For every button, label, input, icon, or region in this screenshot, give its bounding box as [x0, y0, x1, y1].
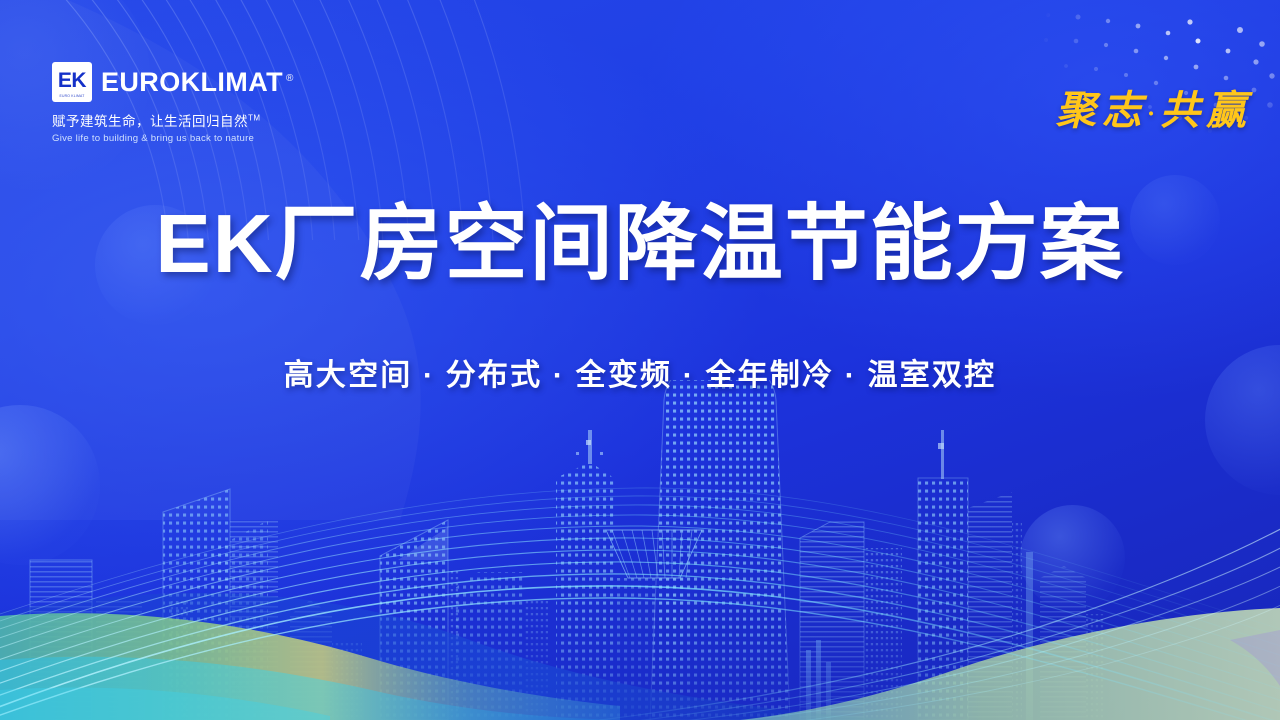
- decor-blob: [0, 405, 100, 565]
- poster-slide: EK EURO KLIMAT EUROKLIMAT® 赋予建筑生命，让生活回归自…: [0, 0, 1280, 720]
- brand-tagline-en: Give life to building & bring us back to…: [52, 133, 382, 144]
- slogan-part1: 聚志: [1056, 88, 1148, 133]
- slogan-separator: ·: [1148, 101, 1160, 128]
- brand-wordmark-text: EUROKLIMAT: [101, 67, 283, 97]
- page-title: EK厂房空间降温节能方案: [0, 198, 1280, 289]
- ek-logo-icon: EK EURO KLIMAT: [52, 62, 92, 102]
- brand-logo: EK EURO KLIMAT EUROKLIMAT® 赋予建筑生命，让生活回归自…: [52, 62, 382, 144]
- ek-logo-mark-text: EK: [58, 70, 86, 91]
- ek-logo-mark-subtext: EURO KLIMAT: [52, 95, 92, 98]
- brand-wordmark: EUROKLIMAT®: [101, 69, 294, 96]
- slogan-text: 聚志·共赢: [1056, 78, 1252, 136]
- trademark-icon: TM: [248, 114, 261, 123]
- brand-tagline-cn-text: 赋予建筑生命，让生活回归自然: [52, 114, 248, 129]
- slogan-part2: 共赢: [1160, 88, 1252, 133]
- decor-blob: [1020, 505, 1125, 610]
- brand-tagline-cn: 赋予建筑生命，让生活回归自然TM: [52, 110, 382, 130]
- registered-mark-icon: ®: [286, 73, 294, 84]
- page-subtitle: 高大空间 · 分布式 · 全变频 · 全年制冷 · 温室双控: [0, 350, 1280, 394]
